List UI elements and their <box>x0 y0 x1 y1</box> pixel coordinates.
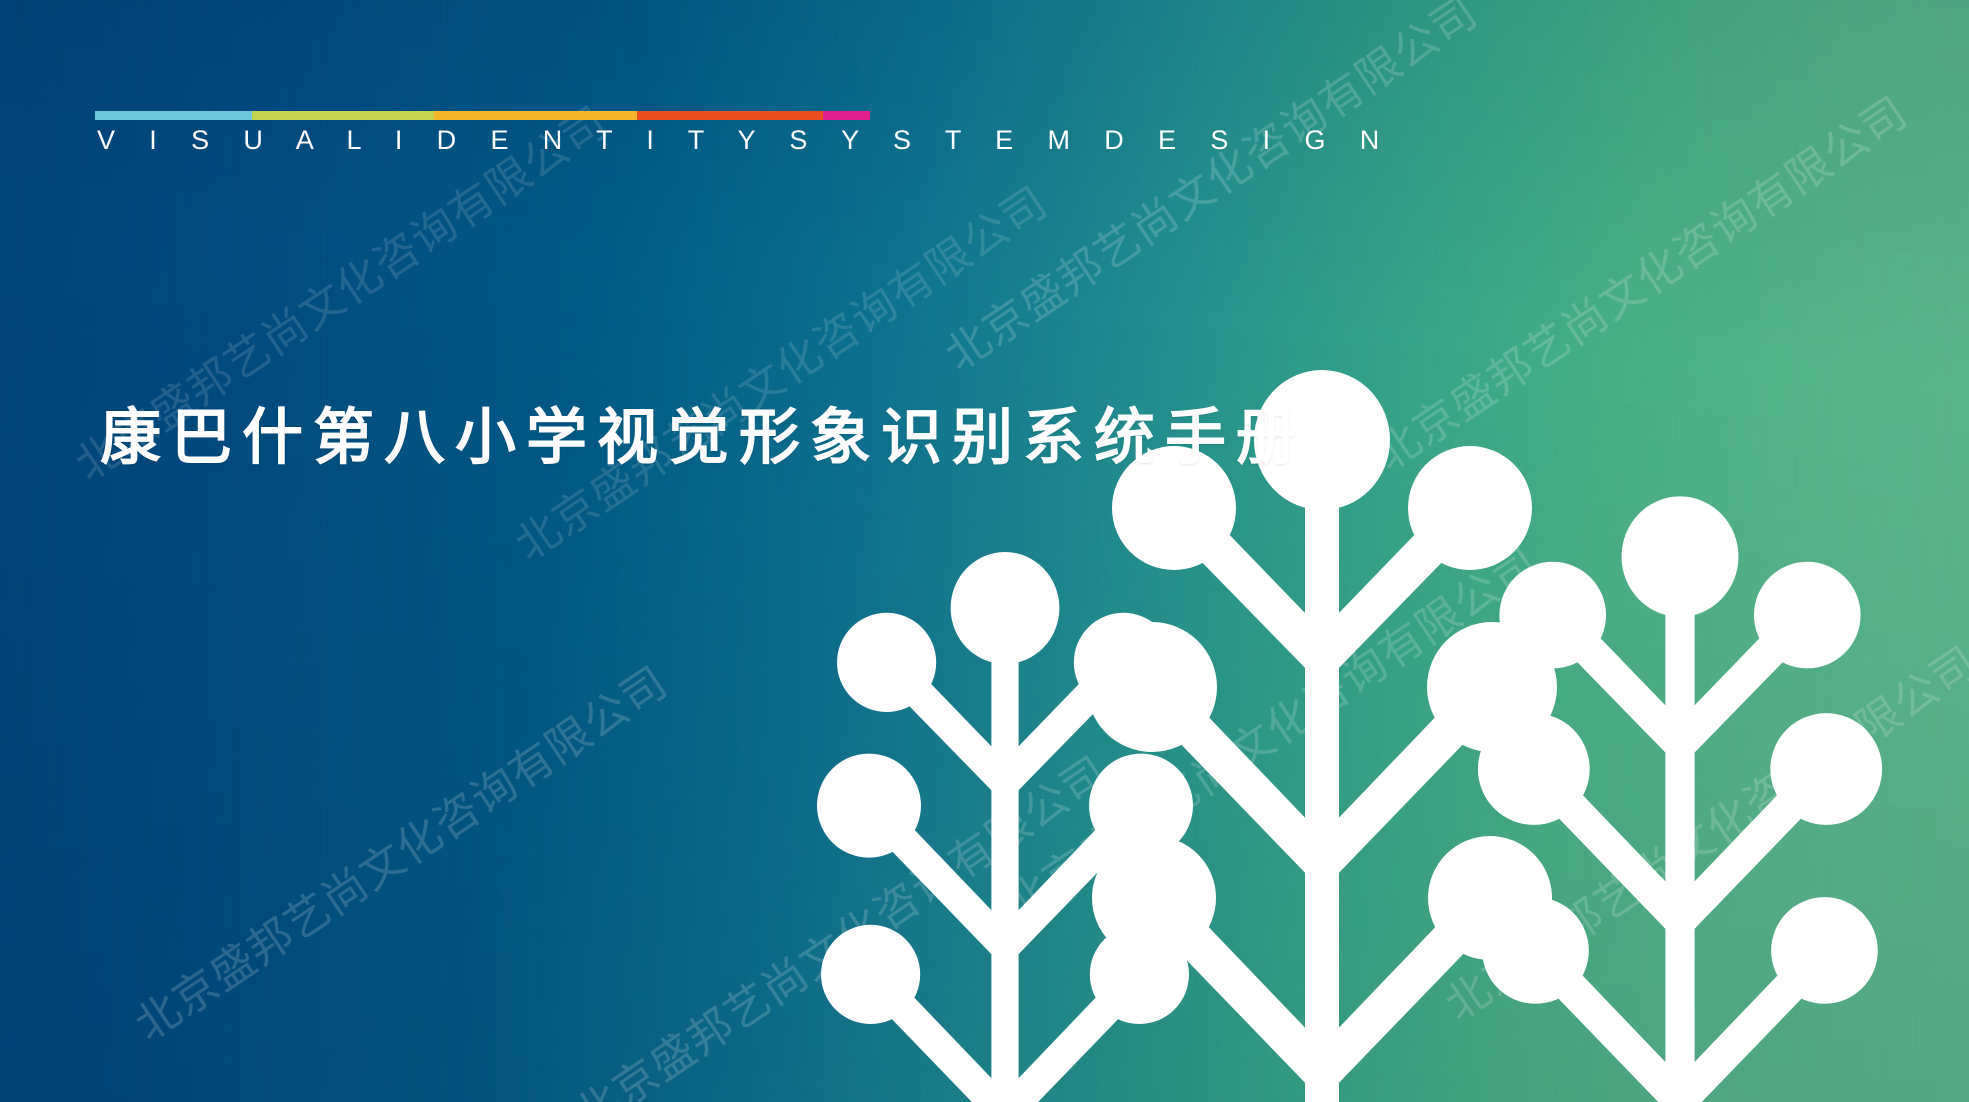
color-bar-segment-cyan <box>95 111 252 120</box>
color-bar-segment-yellow <box>434 111 637 120</box>
color-bar-segment-orange <box>637 111 823 120</box>
eyebrow-label: V I S U A L I D E N T I T Y S Y S T E M … <box>97 127 1393 154</box>
color-bar-segment-lime <box>252 111 434 120</box>
color-bar-segment-magenta <box>823 111 870 120</box>
background-shading-overlay <box>0 0 1969 1102</box>
slide-canvas: 北京盛邦艺尚文化咨询有限公司北京盛邦艺尚文化咨询有限公司北京盛邦艺尚文化咨询有限… <box>0 0 1969 1102</box>
header-color-bar <box>95 111 870 120</box>
page-title: 康巴什第八小学视觉形象识别系统手册 <box>100 399 1307 475</box>
